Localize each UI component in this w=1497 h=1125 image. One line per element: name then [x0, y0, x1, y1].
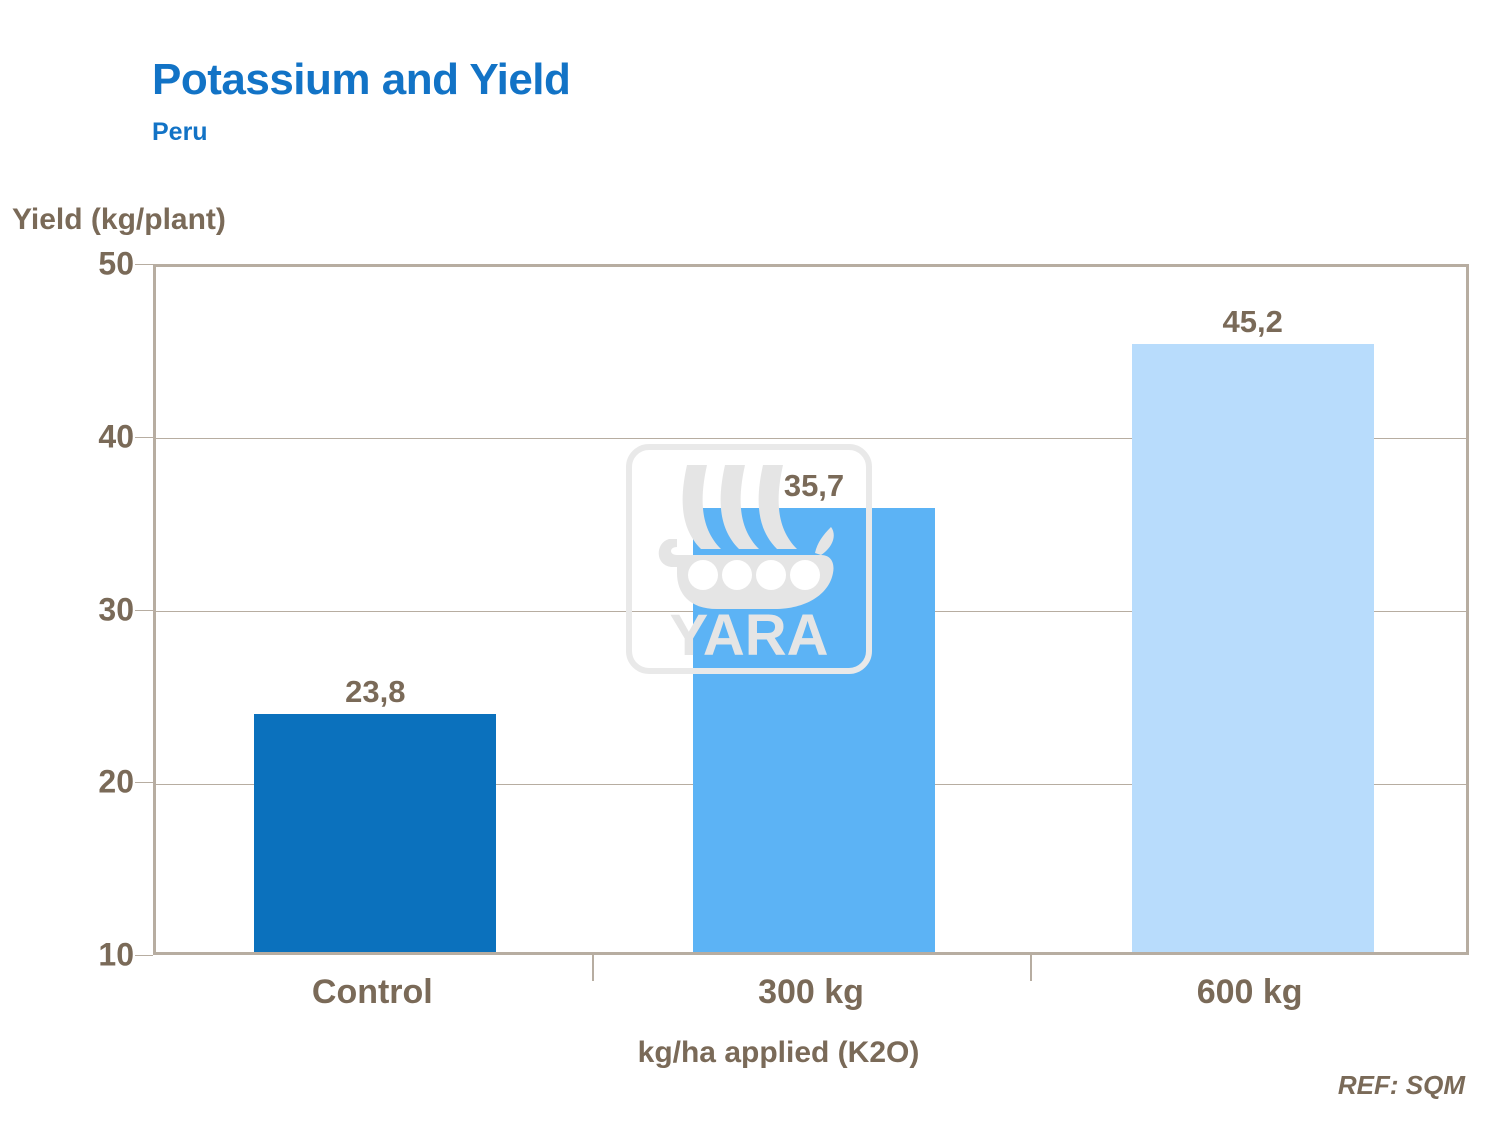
- x-axis-title-label: kg/ha applied (K2O): [638, 1036, 920, 1069]
- y-tick-mark: [135, 437, 153, 438]
- y-tick-mark: [135, 782, 153, 783]
- bar-1: [254, 714, 496, 952]
- x-tick-separator: [1030, 955, 1032, 981]
- y-tick-mark: [135, 955, 153, 956]
- x-category-label: Control: [312, 973, 433, 1012]
- y-tick-label: 20: [54, 764, 134, 801]
- y-axis-title: Yield (kg/plant): [12, 203, 226, 237]
- y-tick-mark: [135, 264, 153, 265]
- x-category-label: 300 kg: [758, 973, 864, 1012]
- x-axis-title: kg/ha applied (K2O): [0, 1036, 1497, 1070]
- reference-note: REF: SQM: [1338, 1070, 1465, 1101]
- page-title: Potassium and Yield: [152, 55, 570, 105]
- plot-area: 23,835,745,2: [153, 264, 1469, 955]
- bar-3: [1132, 344, 1374, 952]
- bar-value-label: 35,7: [784, 468, 844, 504]
- bar-value-label: 23,8: [345, 674, 405, 710]
- bar-2: [693, 508, 935, 952]
- chart-subtitle: Peru: [152, 118, 208, 147]
- bar-value-label: 45,2: [1222, 304, 1282, 340]
- x-tick-separator: [592, 955, 594, 981]
- x-category-label: 600 kg: [1197, 973, 1303, 1012]
- y-tick-label: 50: [54, 246, 134, 283]
- y-tick-label: 10: [54, 937, 134, 974]
- y-tick-label: 40: [54, 418, 134, 455]
- y-tick-label: 30: [54, 591, 134, 628]
- y-tick-mark: [135, 610, 153, 611]
